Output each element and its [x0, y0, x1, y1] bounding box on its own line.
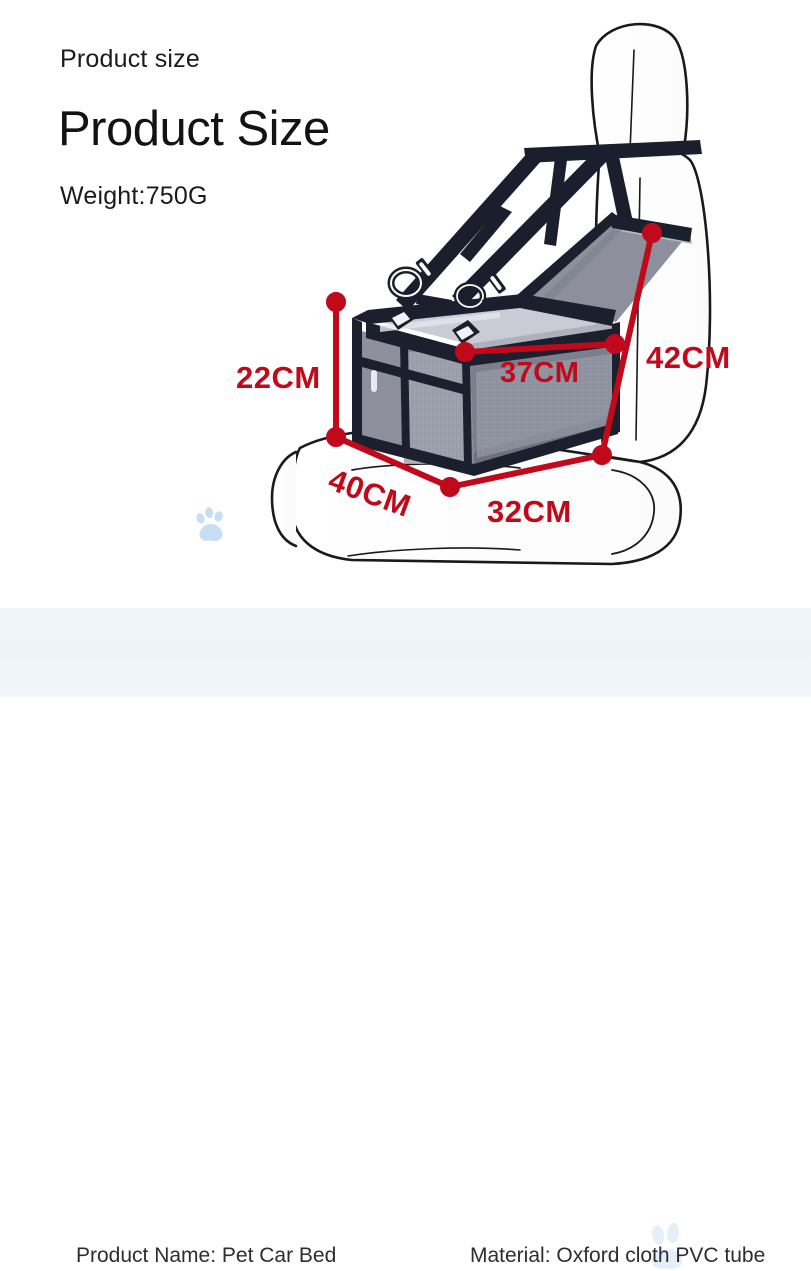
dimension-label-37cm: 37CM — [500, 357, 579, 390]
dimension-label-22cm: 22CM — [236, 360, 321, 396]
paw-print-icon — [192, 505, 230, 545]
dimension-label-32cm: 32CM — [487, 494, 572, 530]
footer-material: Material: Oxford cloth PVC tube — [470, 1244, 765, 1268]
slider-buckle-icon — [486, 271, 506, 294]
dimension-label-42cm: 42CM — [646, 340, 731, 376]
footer-product-name: Product Name: Pet Car Bed — [76, 1244, 336, 1268]
footer-bar: Product Name: Pet Car Bed Material: Oxfo… — [0, 608, 811, 697]
product-size-infographic: Product size Product Size Weight:750G — [0, 0, 811, 697]
